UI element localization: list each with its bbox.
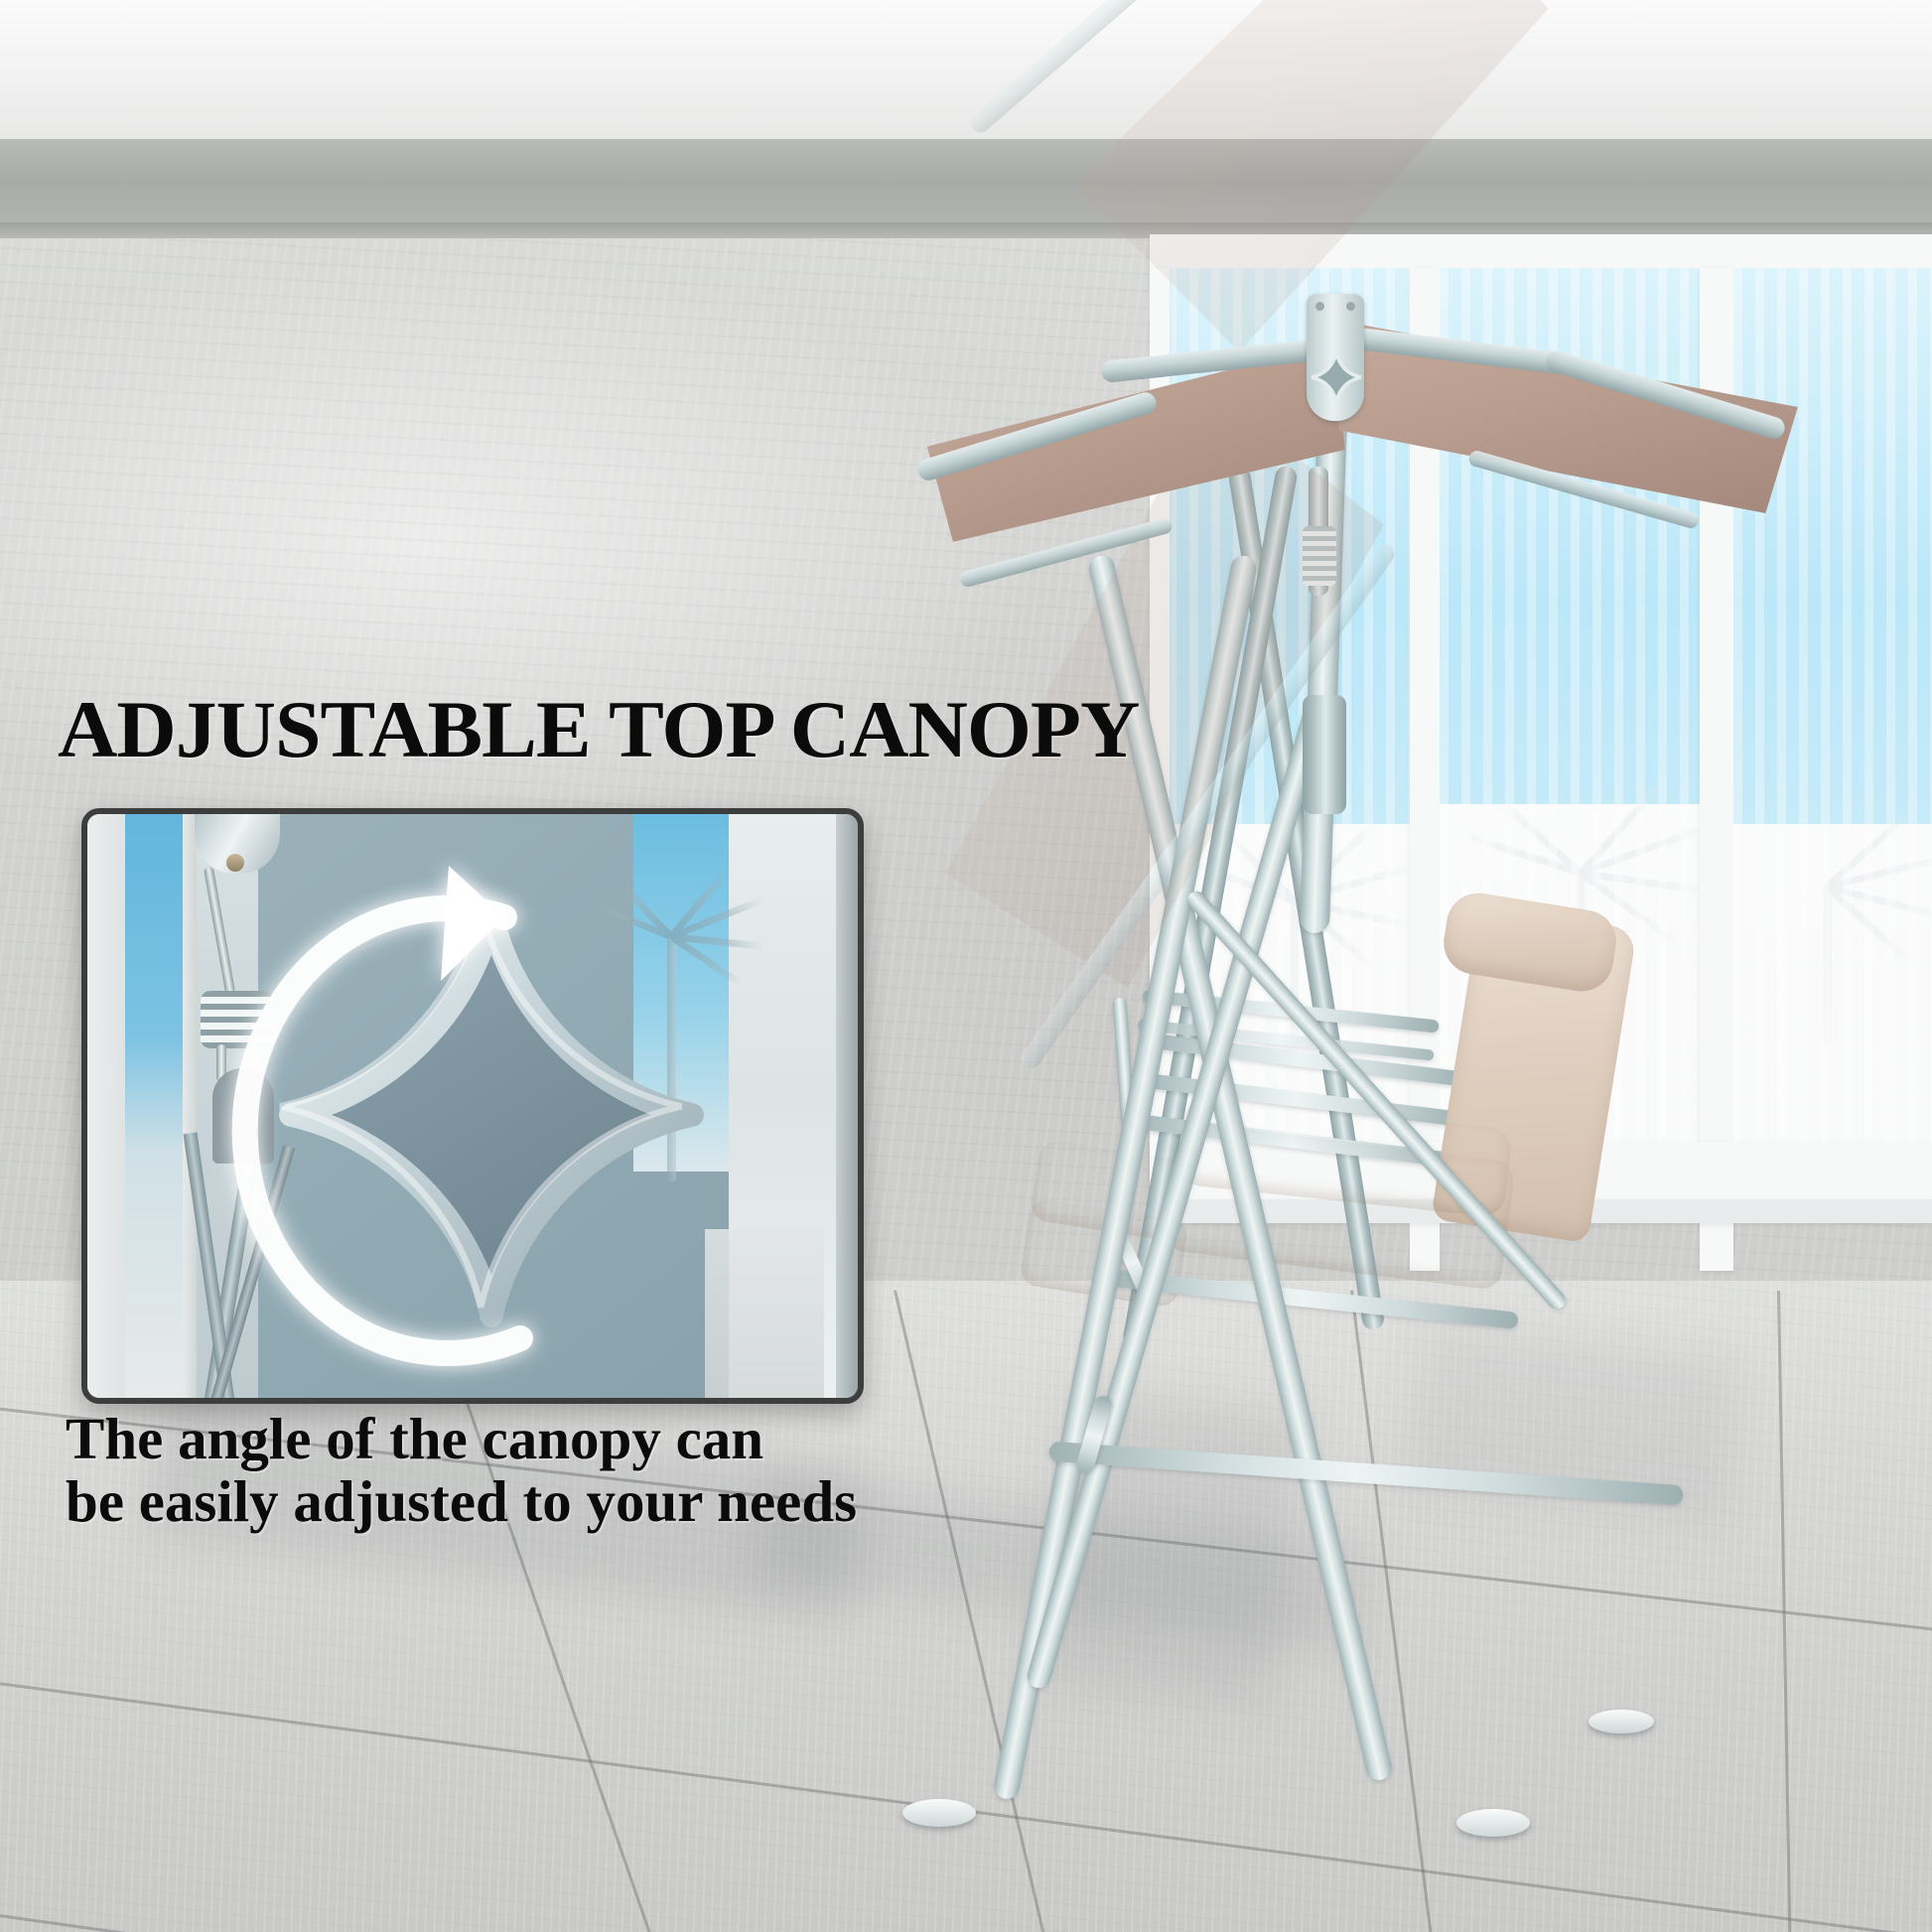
bracket-screw xyxy=(1346,302,1355,311)
page-title: ADJUSTABLE TOP CANOPY xyxy=(58,683,1139,776)
foot-cap-right xyxy=(1456,1809,1530,1837)
caption-line-1: The angle of the canopy can xyxy=(66,1408,857,1470)
inset-window-glass xyxy=(125,814,183,1398)
product-feature-image: ADJUSTABLE TOP CANOPY The angle of the c… xyxy=(0,0,1932,1932)
inset-wall-edge xyxy=(87,814,125,1398)
feature-caption: The angle of the canopy can be easily ad… xyxy=(66,1408,857,1533)
rotation-arrow-icon xyxy=(207,834,762,1390)
caption-line-2: be easily adjusted to your needs xyxy=(66,1470,857,1533)
foot-cap-rear xyxy=(1588,1710,1654,1733)
bracket-screw xyxy=(1315,302,1324,311)
ceiling-beam xyxy=(0,139,1932,230)
four-point-star-hub-icon xyxy=(1311,351,1362,403)
sheer-curtain xyxy=(1733,268,1932,1142)
canopy-angle-detail-panel[interactable] xyxy=(81,808,864,1404)
ceiling-soffit xyxy=(0,0,1932,147)
inset-window-mullion xyxy=(183,814,197,1398)
inset-right-jamb xyxy=(836,814,858,1398)
glass-panel-3 xyxy=(1733,268,1932,1142)
foot-cap-left xyxy=(902,1799,976,1827)
mast-collar xyxy=(1303,695,1346,814)
